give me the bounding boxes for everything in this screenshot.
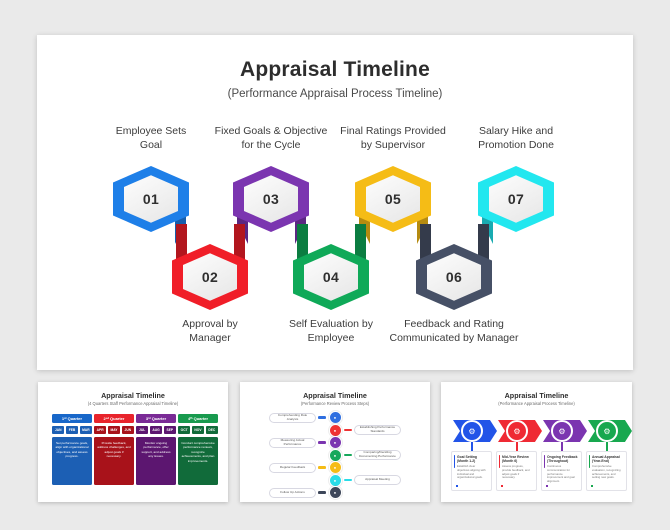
timeline-connector-dash [318,441,326,444]
thumbnail-quarters[interactable]: Appraisal Timeline (4 Quarters Staff Per… [38,382,228,502]
step-caption-line1: Self Evaluation by [261,318,401,332]
timeline-step-hexagon[interactable]: 03 [233,166,309,232]
timeline-connector-dash [344,429,352,432]
quarter-description: Set performance goals, align with organi… [52,437,92,485]
stage-card-body: Continuous communication for performance… [547,465,578,483]
timeline-node-label[interactable]: Establishing Performance Standards [354,425,401,435]
timeline-node-chat-icon[interactable]: ● [329,461,342,474]
thumb3-title: Appraisal Timeline [441,391,632,400]
month-chip: DEC [206,426,218,434]
month-chip: AUG [150,426,162,434]
quarter-column[interactable]: 2ⁿᵈ QuarterAPRMAYJUNProvide feedback, ad… [94,414,134,485]
timeline-node-gauge-icon[interactable]: ● [329,436,342,449]
page-subtitle: (Performance Appraisal Process Timeline) [37,88,633,100]
timeline-connector-dash [344,479,352,482]
thumb2-subtitle: (Performance Review Process Steps) [240,401,430,406]
step-caption: Final Ratings Providedby Supervisor [323,125,463,152]
timeline-node-label[interactable]: Follow Up Actions [269,488,316,498]
timeline-step-hexagon[interactable]: 02 [172,244,248,310]
timeline-node-label[interactable]: Regular Feedback [269,463,316,473]
step-number: 03 [263,191,279,207]
stage-card-accent [544,455,546,468]
step-caption-line2: Communicated by Manager [384,332,524,346]
thumbnail-review-steps[interactable]: Appraisal Timeline (Performance Review P… [240,382,430,502]
step-caption-line1: Fixed Goals & Objective [201,125,341,139]
step-caption-line1: Final Ratings Provided [323,125,463,139]
stage-card[interactable]: Mid-Year Review (Month 6)Assess progress… [496,451,537,491]
month-chip: MAY [108,426,120,434]
stage-card-accent [589,455,591,468]
thumb1-subtitle: (4 Quarters Staff Performance Appraisal … [38,401,228,406]
page-title: Appraisal Timeline [37,58,633,82]
timeline-step-hexagon[interactable]: 04 [293,244,369,310]
quarter-months: JANFEBMAR [52,426,92,434]
step-number: 01 [143,191,159,207]
step-number: 07 [508,191,524,207]
timeline-node-label[interactable]: Comprehending Role Analysis [269,413,316,423]
stage-stem [471,442,473,451]
thumbnail-strip: Appraisal Timeline (4 Quarters Staff Per… [0,382,670,507]
timeline-step-hexagon[interactable]: 07 [478,166,554,232]
stage-card-dot [546,485,548,487]
screenshot-root: Appraisal Timeline (Performance Appraisa… [0,0,670,530]
stage-card-dot [456,485,458,487]
month-chip: NOV [192,426,204,434]
quarter-description: Provide feedback, address challenges, an… [94,437,134,485]
stage-card-body: Establish clear objectives aligning with… [457,465,488,479]
thumb1-title: Appraisal Timeline [38,391,228,400]
thumb2-title: Appraisal Timeline [240,391,430,400]
step-caption-line2: Manager [140,332,280,346]
stage-card-accent [454,455,456,468]
stage-stem [606,442,608,451]
quarter-description: Monitor ongoing performance, offer suppo… [136,437,176,485]
stage-card[interactable]: Annual Appraisal (Year-End)Comprehensive… [586,451,627,491]
timeline-step-hexagon[interactable]: 01 [113,166,189,232]
step-caption: Feedback and RatingCommunicated by Manag… [384,318,524,345]
timeline-connector-dash [318,466,326,469]
stage-card-body: Comprehensive evaluation, recognizing ac… [592,465,623,479]
step-caption-line2: Promotion Done [446,139,586,153]
stage-stem [516,442,518,451]
stage-card[interactable]: Goal Setting (Month 1-2)Establish clear … [451,451,492,491]
step-caption: Employee SetsGoal [81,125,221,152]
step-caption-line1: Feedback and Rating [384,318,524,332]
quarter-column[interactable]: 4ᵗʰ QuarterOCTNOVDECConduct comprehensiv… [178,414,218,485]
timeline-node-flag-icon[interactable]: ● [329,424,342,437]
quarter-months: OCTNOVDEC [178,426,218,434]
thumb3-subtitle: (Performance Appraisal Process Timeline) [441,401,632,406]
month-chip: JUL [136,426,148,434]
timeline-node-label[interactable]: Appraisal Meeting [354,475,401,485]
quarter-column[interactable]: 1ˢᵗ QuarterJANFEBMARSet performance goal… [52,414,92,485]
timeline-node-checklist-icon[interactable]: ● [329,486,342,499]
step-caption-line1: Approval by [140,318,280,332]
step-caption-line1: Salary Hike and [446,125,586,139]
stage-icon-appraisal-icon[interactable]: ⚙ [596,420,618,442]
stage-icon-goal-icon[interactable]: ⚙ [461,420,483,442]
step-caption-line2: Employee [261,332,401,346]
quarter-header: 3ʳᵈ Quarter [136,414,176,423]
quarter-column[interactable]: 3ʳᵈ QuarterJULAUGSEPMonitor ongoing perf… [136,414,176,485]
stage-card-heading: Annual Appraisal (Year-End) [592,455,623,463]
month-chip: JAN [52,426,64,434]
timeline-node-compare-icon[interactable]: ● [329,449,342,462]
step-number: 05 [385,191,401,207]
timeline-connector-dash [318,416,326,419]
month-chip: FEB [66,426,78,434]
quarter-description: Conduct comprehensive performance review… [178,437,218,485]
main-slide[interactable]: Appraisal Timeline (Performance Appraisa… [37,35,633,370]
quarter-header: 4ᵗʰ Quarter [178,414,218,423]
timeline-connector-dash [318,491,326,494]
stage-icon-feedback-icon[interactable]: ⚙ [551,420,573,442]
quarter-header: 1ˢᵗ Quarter [52,414,92,423]
step-caption-line2: Goal [81,139,221,153]
timeline-step-hexagon[interactable]: 05 [355,166,431,232]
stage-card-dot [591,485,593,487]
month-chip: OCT [178,426,190,434]
quarter-months: JULAUGSEP [136,426,176,434]
thumbnail-process-timeline[interactable]: Appraisal Timeline (Performance Appraisa… [441,382,632,502]
step-caption: Self Evaluation byEmployee [261,318,401,345]
stage-stem [561,442,563,451]
quarter-header: 2ⁿᵈ Quarter [94,414,134,423]
stage-card-heading: Ongoing Feedback (Throughout) [547,455,578,463]
step-number: 04 [323,269,339,285]
timeline-connector-dash [344,454,352,457]
stage-card-dot [501,485,503,487]
step-caption-line1: Employee Sets [81,125,221,139]
step-caption: Salary Hike andPromotion Done [446,125,586,152]
stage-card-body: Assess progress, provide feedback, and a… [502,465,533,479]
month-chip: JUN [122,426,134,434]
stage-card-heading: Mid-Year Review (Month 6) [502,455,533,463]
stage-icon-review-icon[interactable]: ⚙ [506,420,528,442]
step-number: 02 [202,269,218,285]
step-caption: Approval byManager [140,318,280,345]
stage-card[interactable]: Ongoing Feedback (Throughout)Continuous … [541,451,582,491]
timeline-node-target-icon[interactable]: ● [329,411,342,424]
stage-card-heading: Goal Setting (Month 1-2) [457,455,488,463]
timeline-node-meeting-icon[interactable]: ● [329,474,342,487]
timeline-step-hexagon[interactable]: 06 [416,244,492,310]
step-number: 06 [446,269,462,285]
step-caption-line2: for the Cycle [201,139,341,153]
timeline-node-label[interactable]: Comparing/Deciding Documenting Performan… [354,450,401,460]
step-caption-line2: by Supervisor [323,139,463,153]
stage-card-accent [499,455,501,468]
timeline-node-label[interactable]: Measuring Actual Performance [269,438,316,448]
step-caption: Fixed Goals & Objectivefor the Cycle [201,125,341,152]
quarter-months: APRMAYJUN [94,426,134,434]
month-chip: APR [94,426,106,434]
month-chip: SEP [164,426,176,434]
month-chip: MAR [80,426,92,434]
